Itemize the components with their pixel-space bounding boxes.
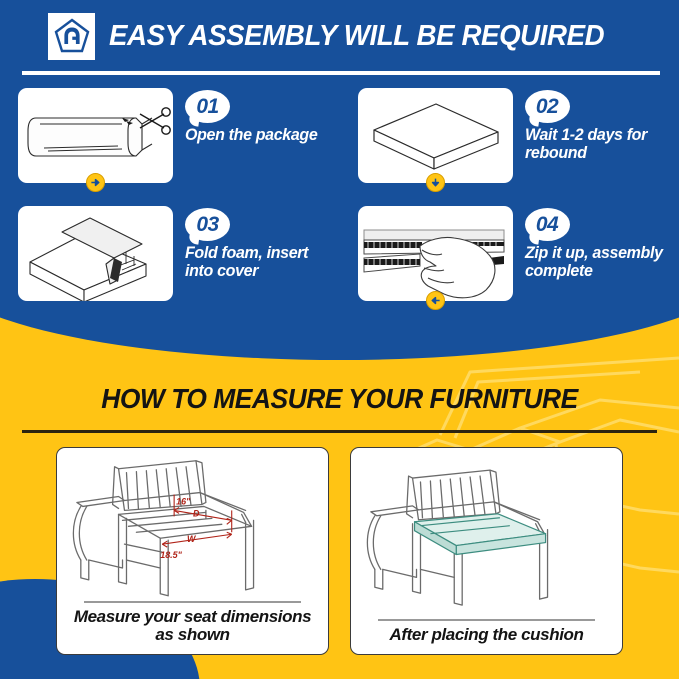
arrow-down-icon bbox=[426, 173, 445, 192]
measure-card-caption: After placing the cushion bbox=[351, 621, 622, 654]
measure-title-divider bbox=[22, 430, 657, 433]
step-number: 03 bbox=[196, 213, 218, 237]
step-number-badge: 03 bbox=[185, 208, 230, 241]
assembly-header: EASY ASSEMBLY WILL BE REQUIRED bbox=[48, 11, 648, 61]
flat-foam-cushion-icon bbox=[358, 88, 513, 183]
step-02-text: 02 Wait 1-2 days for rebound bbox=[525, 90, 675, 162]
step-label: Zip it up, assembly complete bbox=[525, 245, 671, 280]
measure-section-title: HOW TO MEASURE YOUR FURNITURE bbox=[14, 383, 666, 415]
step-label: Fold foam, insert into cover bbox=[185, 245, 331, 280]
foam-inserted-into-cover-icon bbox=[18, 206, 173, 301]
assembly-section: EASY ASSEMBLY WILL BE REQUIRED bbox=[0, 0, 679, 360]
step-number: 04 bbox=[536, 213, 558, 237]
measure-card-cushion: After placing the cushion bbox=[350, 447, 623, 655]
dimension-width-value: 18.5" bbox=[160, 550, 182, 560]
hand-zipping-zipper-icon bbox=[358, 206, 513, 301]
dimension-depth-value: 16" bbox=[176, 496, 191, 506]
step-label: Open the package bbox=[185, 127, 331, 145]
steps-row-2: 03 Fold foam, insert into cover bbox=[0, 202, 679, 320]
dimension-depth-axis: D bbox=[193, 508, 200, 518]
house-pentagon-logo-icon bbox=[48, 13, 95, 60]
steps-row-1: 01 Open the package bbox=[0, 84, 679, 202]
infographic-root: EASY ASSEMBLY WILL BE REQUIRED bbox=[0, 0, 679, 679]
step-04-text: 04 Zip it up, assembly complete bbox=[525, 208, 675, 280]
step-number-badge: 04 bbox=[525, 208, 570, 241]
step-number-badge: 02 bbox=[525, 90, 570, 123]
chair-with-cushion-icon bbox=[351, 448, 622, 619]
measure-cards: 16" D W 18.5" Measure your seat dimensio… bbox=[0, 447, 679, 655]
arrow-right-icon bbox=[86, 173, 105, 192]
steps-grid: 01 Open the package bbox=[0, 84, 679, 320]
step-02: 02 Wait 1-2 days for rebound bbox=[340, 84, 679, 202]
chair-with-dimension-lines-icon: 16" D W 18.5" bbox=[57, 448, 328, 601]
step-01-text: 01 Open the package bbox=[185, 90, 335, 145]
step-03: 03 Fold foam, insert into cover bbox=[0, 202, 340, 320]
arrow-left-icon bbox=[426, 291, 445, 310]
step-03-text: 03 Fold foam, insert into cover bbox=[185, 208, 335, 280]
step-number: 02 bbox=[536, 95, 558, 119]
step-04: 04 Zip it up, assembly complete bbox=[340, 202, 679, 320]
step-label: Wait 1-2 days for rebound bbox=[525, 127, 671, 162]
measure-card-caption: Measure your seat dimensions as shown bbox=[57, 603, 328, 654]
step-number: 01 bbox=[196, 95, 218, 119]
header-divider bbox=[22, 71, 660, 75]
rolled-package-with-scissors-icon bbox=[18, 88, 173, 183]
page-title: EASY ASSEMBLY WILL BE REQUIRED bbox=[109, 20, 604, 53]
step-01: 01 Open the package bbox=[0, 84, 340, 202]
measure-card-dimensions: 16" D W 18.5" Measure your seat dimensio… bbox=[56, 447, 329, 655]
step-number-badge: 01 bbox=[185, 90, 230, 123]
